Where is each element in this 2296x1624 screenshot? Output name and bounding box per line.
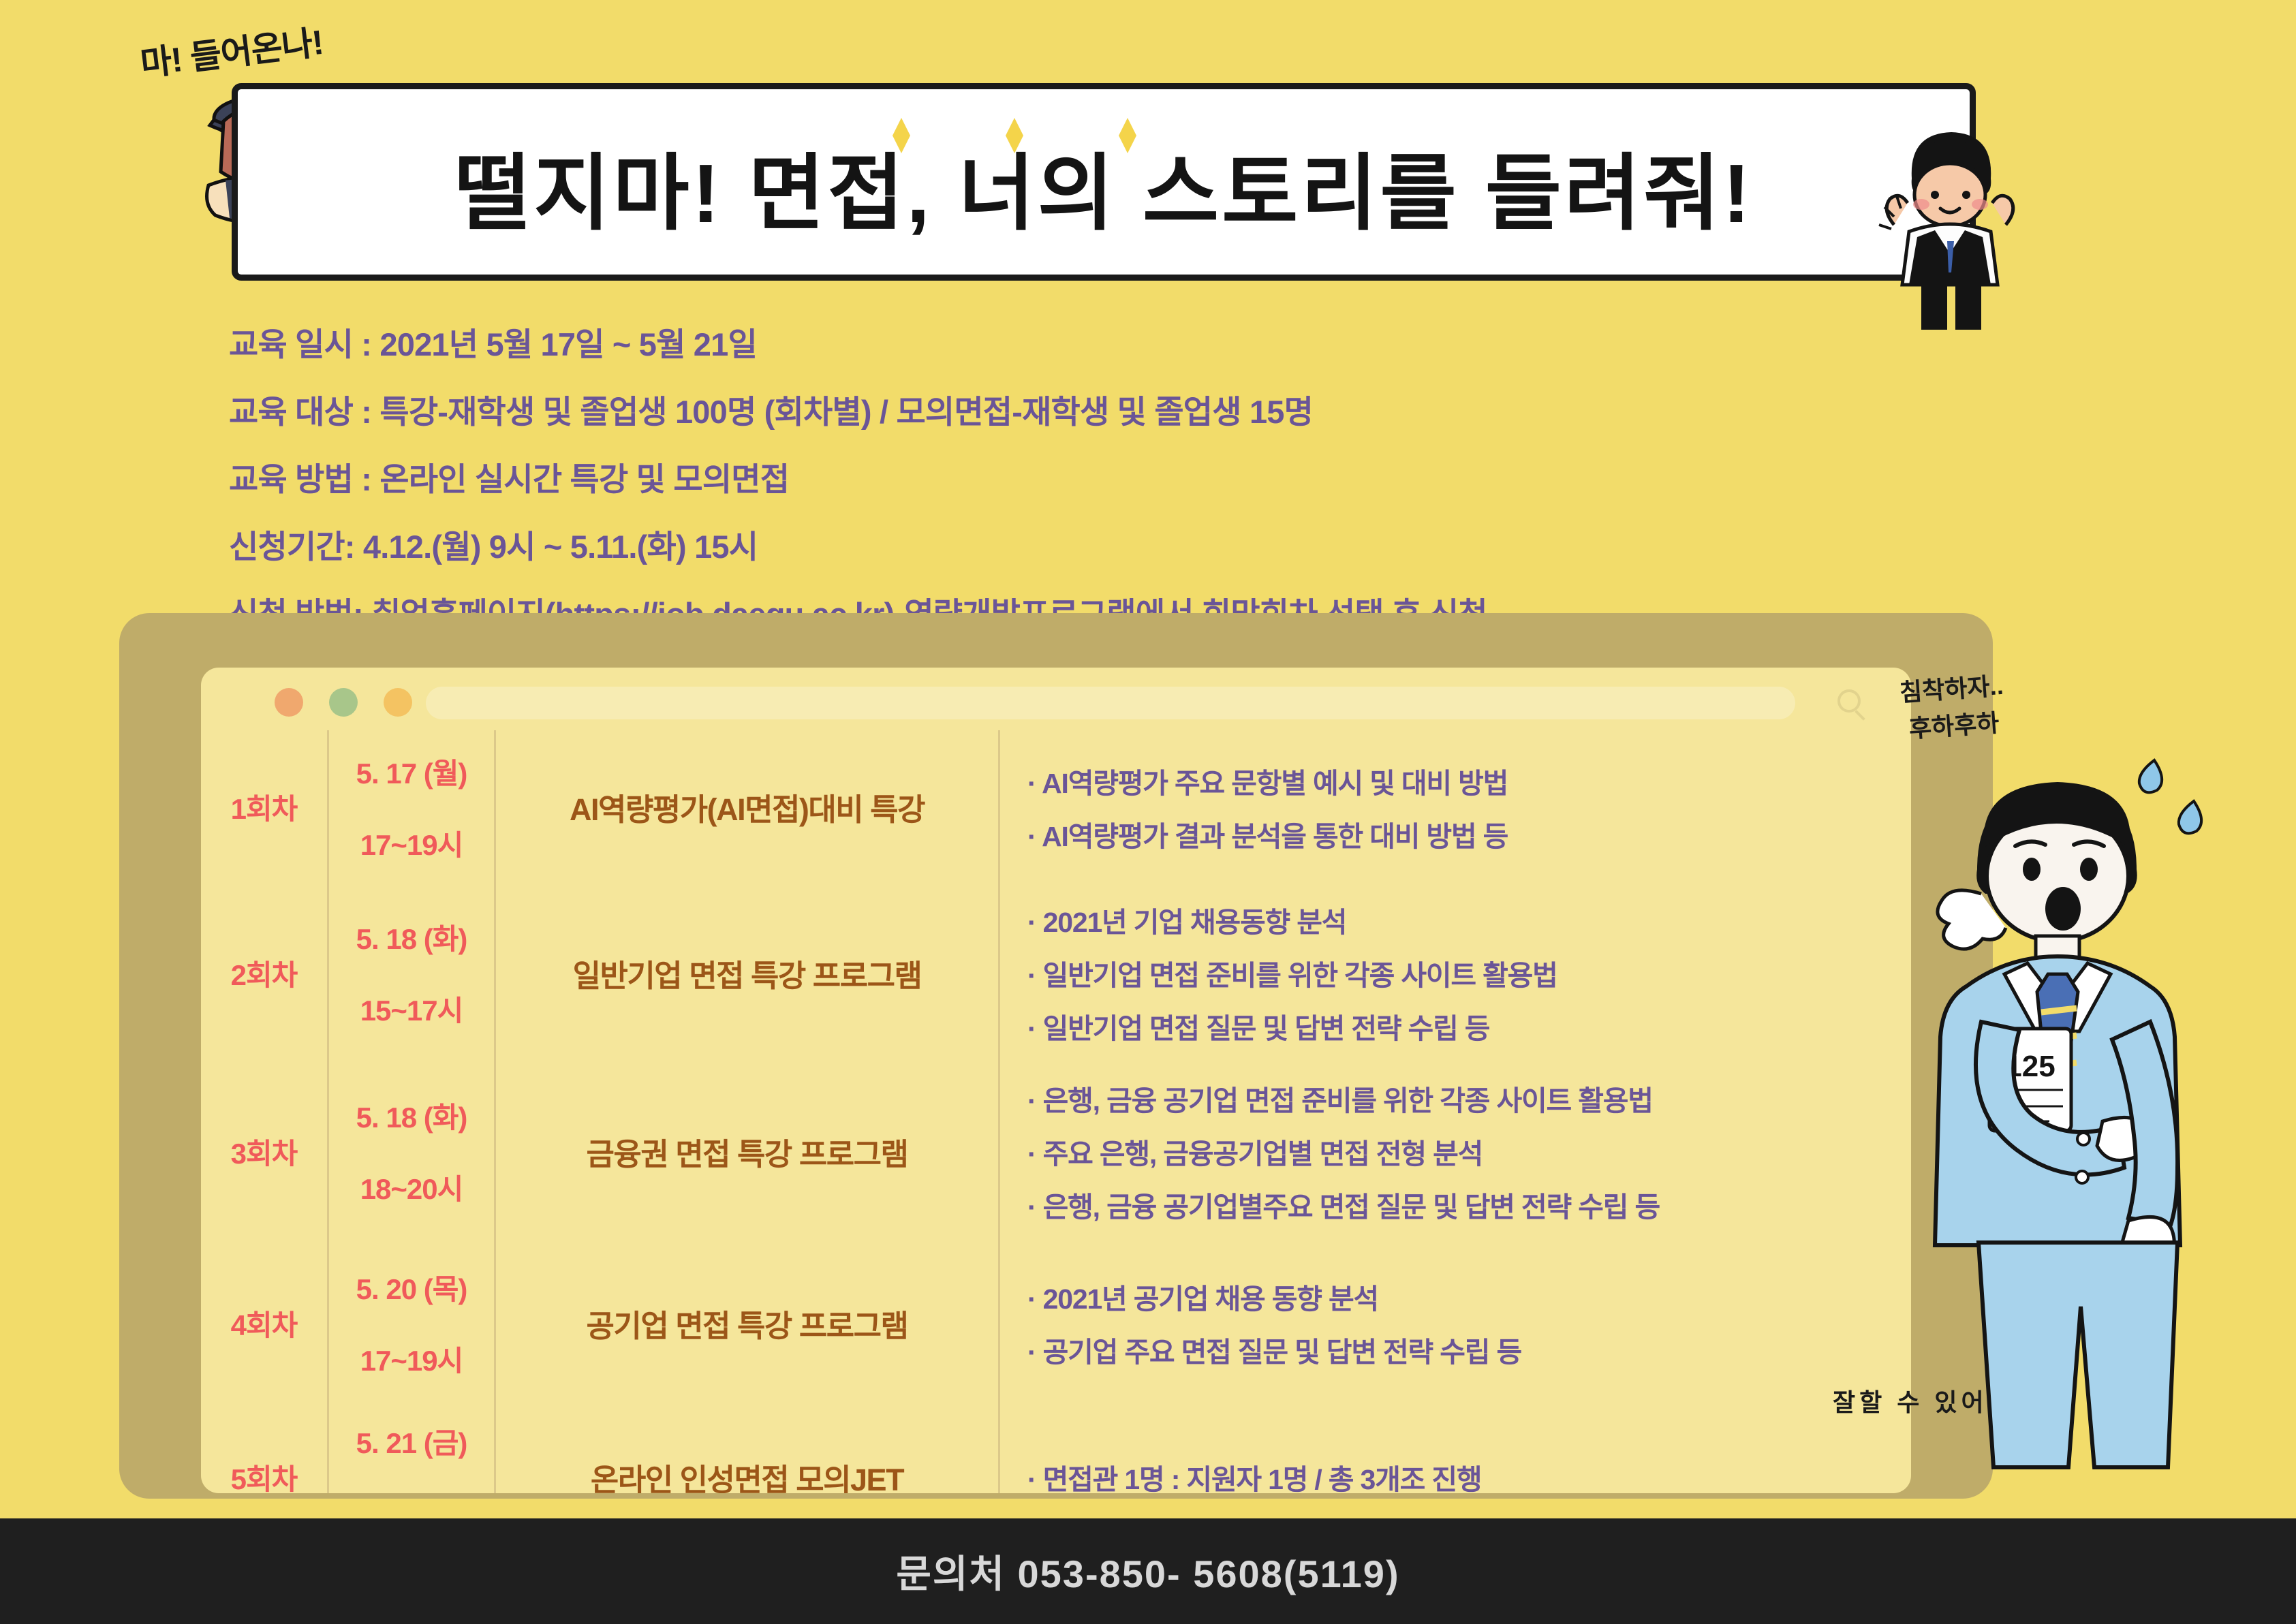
- time-text: 17~19시: [360, 822, 463, 864]
- detail-bullet: · 주요 은행, 금융공기업별 면접 전형 분석: [1027, 1131, 1911, 1172]
- detail-bullet: · AI역량평가 결과 분석을 통한 대비 방법 등: [1027, 813, 1911, 854]
- speech-top-text: 마! 들어온나!: [138, 15, 326, 86]
- info-line-apply-period: 신청기간: 4.12.(월) 9시 ~ 5.11.(화) 15시: [229, 531, 1864, 563]
- date-text: 5. 17 (월): [356, 751, 467, 792]
- detail-bullet: · 2021년 공기업 채용 동향 분석: [1027, 1276, 1911, 1317]
- session-label: 1회차: [201, 730, 327, 884]
- session-label: 4회차: [201, 1240, 327, 1405]
- session-label: 5회차: [201, 1405, 327, 1493]
- detail-bullet: · 일반기업 면접 준비를 위한 각종 사이트 활용법: [1027, 952, 1911, 993]
- detail-cell: · 2021년 공기업 채용 동향 분석 · 공기업 주요 면접 질문 및 답변…: [998, 1240, 1911, 1405]
- browser-window: 1회차 5. 17 (월) 17~19시 AI역량평가(AI면접)대비 특강 ·…: [201, 668, 1911, 1493]
- date-text: 5. 20 (목): [356, 1266, 467, 1308]
- program-title: AI역량평가(AI면접)대비 특강: [494, 730, 998, 884]
- page-title: 떨지마! 면접, 너의 스토리를 들려줘!: [454, 126, 1753, 247]
- address-bar[interactable]: [426, 687, 1795, 719]
- search-icon[interactable]: [1837, 689, 1861, 713]
- time-text: 15~17시: [360, 988, 463, 1029]
- table-row: 4회차 5. 20 (목) 17~19시 공기업 면접 특강 프로그램 · 20…: [201, 1240, 1911, 1405]
- window-controls: [275, 688, 412, 717]
- program-title: 온라인 인성면접 모의JET: [494, 1405, 998, 1493]
- info-line-target: 교육 대상 : 특강-재학생 및 졸업생 100명 (회차별) / 모의면접-재…: [229, 396, 1864, 428]
- table-row: 1회차 5. 17 (월) 17~19시 AI역량평가(AI면접)대비 특강 ·…: [201, 730, 1911, 884]
- program-title: 금융권 면접 특강 프로그램: [494, 1062, 998, 1240]
- detail-bullet: · 은행, 금융 공기업 면접 준비를 위한 각종 사이트 활용법: [1027, 1078, 1911, 1119]
- detail-cell: · 면접관 1명 : 지원자 1명 / 총 3개조 진행: [998, 1405, 1911, 1493]
- detail-bullet: · 공기업 주요 면접 질문 및 답변 전략 수립 등: [1027, 1329, 1911, 1370]
- minimize-dot-icon[interactable]: [329, 688, 358, 717]
- info-line-date: 교육 일시 : 2021년 5월 17일 ~ 5월 21일: [229, 328, 1864, 360]
- info-line-method: 교육 방법 : 온라인 실시간 특강 및 모의면접: [229, 463, 1864, 495]
- browser-toolbar: [201, 668, 1911, 730]
- session-label: 3회차: [201, 1062, 327, 1240]
- program-title: 일반기업 면접 특강 프로그램: [494, 884, 998, 1062]
- note-you-can-do-it: 잘할 수 있어: [1833, 1383, 1988, 1418]
- date-cell: 5. 20 (목) 17~19시: [327, 1240, 494, 1405]
- detail-cell: · AI역량평가 주요 문항별 예시 및 대비 방법 · AI역량평가 결과 분…: [998, 730, 1911, 884]
- contact-text: 문의처 053-850- 5608(5119): [896, 1544, 1399, 1599]
- detail-bullet: · 면접관 1명 : 지원자 1명 / 총 3개조 진행: [1027, 1456, 1911, 1493]
- session-label: 2회차: [201, 884, 327, 1062]
- detail-cell: · 은행, 금융 공기업 면접 준비를 위한 각종 사이트 활용법 · 주요 은…: [998, 1062, 1911, 1240]
- businessman-character-top: [1867, 121, 2030, 336]
- schedule-table: 1회차 5. 17 (월) 17~19시 AI역량평가(AI면접)대비 특강 ·…: [201, 730, 1911, 1493]
- title-banner: 떨지마! 면접, 너의 스토리를 들려줘!: [232, 83, 1976, 281]
- date-cell: 5. 18 (화) 18~20시: [327, 1062, 494, 1240]
- time-text: 17~19시: [360, 1338, 463, 1379]
- detail-bullet: · AI역량평가 주요 문항별 예시 및 대비 방법: [1027, 760, 1911, 801]
- detail-bullet: · 2021년 기업 채용동향 분석: [1027, 899, 1911, 940]
- table-row: 5회차 5. 21 (금) 17~19시 온라인 인성면접 모의JET · 면접…: [201, 1405, 1911, 1493]
- close-dot-icon[interactable]: [275, 688, 303, 717]
- detail-bullet: · 일반기업 면접 질문 및 답변 전략 수립 등: [1027, 1005, 1911, 1046]
- time-text: 17~19시: [360, 1492, 463, 1493]
- date-cell: 5. 18 (화) 15~17시: [327, 884, 494, 1062]
- table-row: 3회차 5. 18 (화) 18~20시 금융권 면접 특강 프로그램 · 은행…: [201, 1062, 1911, 1240]
- detail-cell: · 2021년 기업 채용동향 분석 · 일반기업 면접 준비를 위한 각종 사…: [998, 884, 1911, 1062]
- maximize-dot-icon[interactable]: [384, 688, 412, 717]
- date-cell: 5. 21 (금) 17~19시: [327, 1405, 494, 1493]
- detail-bullet: · 은행, 금융 공기업별주요 면접 질문 및 답변 전략 수립 등: [1027, 1184, 1911, 1225]
- date-text: 5. 18 (화): [356, 916, 467, 958]
- program-title: 공기업 면접 특강 프로그램: [494, 1240, 998, 1405]
- time-text: 18~20시: [360, 1166, 463, 1208]
- date-cell: 5. 17 (월) 17~19시: [327, 730, 494, 884]
- footer-bar: 문의처 053-850- 5608(5119): [0, 1518, 2296, 1624]
- table-row: 2회차 5. 18 (화) 15~17시 일반기업 면접 특강 프로그램 · 2…: [201, 884, 1911, 1062]
- date-text: 5. 18 (화): [356, 1095, 467, 1136]
- poster-root: 마! 들어온나! 떨지마! 면접, 너의 스토리를 들려줘!: [0, 0, 2296, 1624]
- date-text: 5. 21 (금): [356, 1420, 467, 1462]
